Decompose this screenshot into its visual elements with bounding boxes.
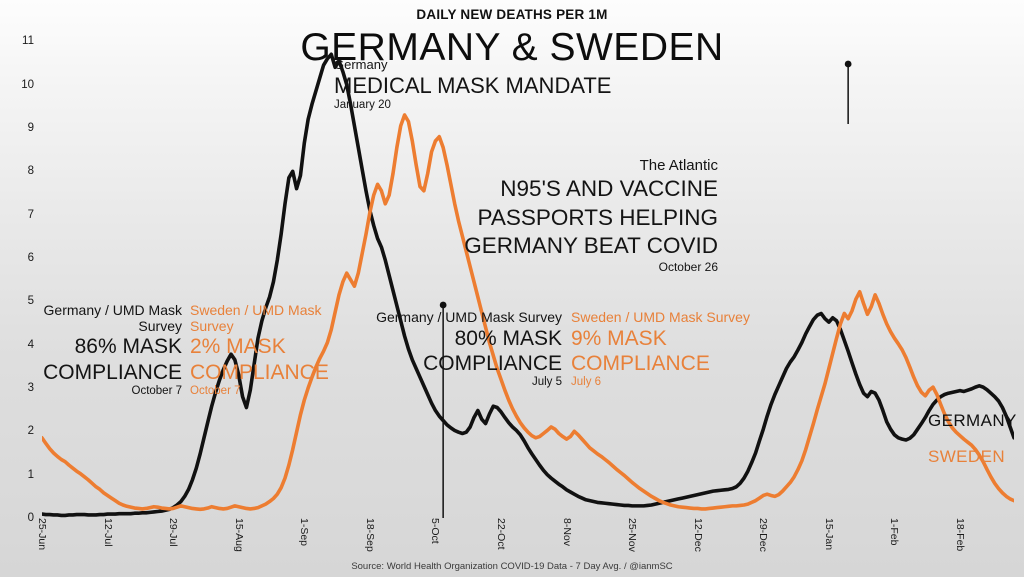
annotation-headline: 2% MASK COMPLIANCE	[190, 334, 346, 384]
annotation-source: Sweden / UMD Mask Survey	[190, 303, 346, 334]
annotation-headline: N95'S AND VACCINE PASSPORTS HELPING GERM…	[452, 175, 718, 261]
x-axis-tick: 25-Nov	[626, 518, 638, 552]
annotation-source: Sweden / UMD Mask Survey	[571, 310, 777, 326]
y-axis-tick: 0	[4, 512, 34, 524]
y-axis-tick: 10	[4, 79, 34, 91]
annotation-headline: 80% MASK COMPLIANCE	[352, 326, 562, 376]
annotation-the-atlantic: The Atlantic N95'S AND VACCINE PASSPORTS…	[452, 158, 718, 275]
annotation-source: Germany / UMD Mask Survey	[352, 310, 562, 326]
x-axis-tick: 12-Dec	[692, 518, 704, 552]
x-axis-tick: 18-Sep	[364, 518, 376, 552]
annotation-date: October 26	[452, 261, 718, 274]
annotation-date: October 7	[20, 385, 182, 398]
annotation-source: Germany / UMD Mask Survey	[20, 303, 182, 334]
x-axis-tick: 1-Feb	[888, 518, 900, 545]
x-axis-tick: 29-Jul	[167, 518, 179, 547]
chart-subtitle: DAILY NEW DEATHS PER 1M	[0, 7, 1024, 22]
annotation-marker-dot	[845, 61, 852, 68]
x-axis-tick: 22-Oct	[495, 518, 507, 550]
annotation-germany-mandate: Germany MEDICAL MASK MANDATE January 20	[334, 58, 611, 112]
annotation-headline: 86% MASK COMPLIANCE	[20, 334, 182, 384]
x-axis-tick: 12-Jul	[102, 518, 114, 547]
annotation-date: January 20	[334, 99, 611, 112]
y-axis-tick: 8	[4, 165, 34, 177]
x-axis-tick: 29-Dec	[757, 518, 769, 552]
y-axis-tick: 3	[4, 382, 34, 394]
x-axis-tick: 18-Feb	[954, 518, 966, 551]
x-axis-tick: 1-Sep	[298, 518, 310, 546]
legend-item-germany: GERMANY	[928, 411, 1017, 431]
x-axis-tick: 15-Jan	[823, 518, 835, 550]
series-line-germany	[42, 54, 1014, 515]
y-axis-tick: 7	[4, 209, 34, 221]
source-note: Source: World Health Organization COVID-…	[0, 561, 1024, 572]
y-axis-tick: 2	[4, 425, 34, 437]
x-axis-tick: 8-Nov	[561, 518, 573, 546]
annotation-marker-dot	[440, 302, 447, 309]
annotation-date: October 7	[190, 385, 346, 398]
annotation-date: July 6	[571, 376, 777, 389]
annotation-date: July 5	[352, 376, 562, 389]
y-axis-tick: 5	[4, 295, 34, 307]
annotation-sweden-umd-october: Sweden / UMD Mask Survey 2% MASK COMPLIA…	[190, 303, 346, 398]
legend-item-sweden: SWEDEN	[928, 447, 1005, 467]
y-axis-tick: 11	[4, 35, 34, 47]
annotation-sweden-umd-july: Sweden / UMD Mask Survey 9% MASK COMPLIA…	[571, 310, 777, 389]
x-axis: 25-Jun12-Jul29-Jul15-Aug1-Sep18-Sep5-Oct…	[42, 518, 1014, 564]
x-axis-tick: 5-Oct	[429, 518, 441, 544]
annotation-source: Germany	[334, 58, 611, 73]
y-axis-tick: 1	[4, 469, 34, 481]
annotation-germany-umd-october: Germany / UMD Mask Survey 86% MASK COMPL…	[20, 303, 182, 398]
y-axis-tick: 4	[4, 339, 34, 351]
annotation-source: The Atlantic	[452, 158, 718, 175]
annotation-headline: 9% MASK COMPLIANCE	[571, 326, 777, 376]
y-axis-tick: 6	[4, 252, 34, 264]
annotation-headline: MEDICAL MASK MANDATE	[334, 73, 611, 99]
x-axis-tick: 15-Aug	[233, 518, 245, 552]
x-axis-tick: 25-Jun	[36, 518, 48, 550]
annotation-germany-umd-july: Germany / UMD Mask Survey 80% MASK COMPL…	[352, 310, 562, 389]
chart-screenshot: DAILY NEW DEATHS PER 1M GERMANY & SWEDEN…	[0, 0, 1024, 577]
y-axis-tick: 9	[4, 122, 34, 134]
